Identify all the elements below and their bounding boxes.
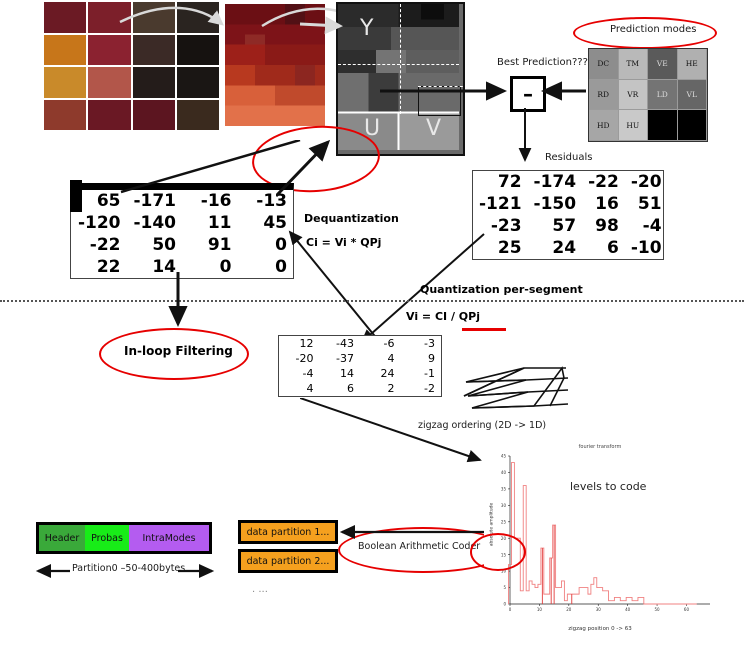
matrix-cell: -1 — [401, 366, 442, 381]
matrix-cell: 57 — [528, 215, 583, 237]
data-partition-ellipsis: . ... — [252, 584, 268, 595]
amplitude-axis-ellipse — [470, 533, 526, 571]
svg-text:20: 20 — [566, 607, 572, 612]
residuals-label: Residuals — [545, 152, 592, 163]
pred-mode-empty — [648, 110, 678, 141]
pred-mode-hd: HD — [589, 110, 619, 141]
svg-text:40: 40 — [501, 470, 507, 475]
svg-text:25: 25 — [501, 519, 507, 524]
svg-text:50: 50 — [655, 607, 661, 612]
pred-mode-ld: LD — [648, 80, 678, 111]
matrix-cell: 9 — [401, 351, 442, 366]
matrix-cell: -4 — [279, 366, 320, 381]
pred-mode-rd: RD — [589, 80, 619, 111]
matrix-cell: 4 — [279, 381, 320, 396]
svg-text:30: 30 — [596, 607, 602, 612]
matrix-cell: -3 — [401, 336, 442, 351]
quantization-separator — [0, 300, 744, 302]
probas-segment: Probas — [85, 525, 129, 551]
matrix-cell: 14 — [320, 366, 361, 381]
arrow-to-inloop — [168, 272, 192, 334]
data-partition-1-box: data partition 1... — [238, 520, 338, 544]
residuals-matrix: 72-174-22-20-121-1501651-235798-425246-1… — [472, 170, 664, 260]
svg-text:35: 35 — [501, 486, 507, 491]
matrix-cell: 2 — [360, 381, 401, 396]
matrix-cell: -4 — [625, 215, 668, 237]
matrix-cell: 12 — [279, 336, 320, 351]
matrix-cell: 11 — [182, 212, 238, 234]
matrix-cell: 16 — [582, 193, 625, 215]
svg-text:0: 0 — [503, 602, 506, 607]
matrix-cell: -22 — [71, 234, 127, 256]
svg-text:45: 45 — [501, 454, 507, 459]
matrix-cell: 24 — [528, 237, 583, 259]
quantization-formula: Vi = CI / QPj — [406, 310, 480, 323]
matrix-cell: 4 — [360, 351, 401, 366]
matrix-cell: 98 — [582, 215, 625, 237]
pred-mode-tm: TM — [619, 49, 649, 80]
matrix-cell: 24 — [360, 366, 401, 381]
data-partition-2-label: data partition 2... — [241, 556, 335, 567]
svg-text:10: 10 — [537, 607, 543, 612]
matrix-cell: -20 — [279, 351, 320, 366]
quantized-coefficients-matrix: 12-43-6-3-20-3749-41424-1462-2 — [278, 335, 442, 397]
matrix-cell: -150 — [528, 193, 583, 215]
matrix-cell: 50 — [127, 234, 183, 256]
in-loop-filtering-label: In-loop Filtering — [124, 344, 233, 358]
matrix-cell: -20 — [625, 171, 668, 193]
data-partition-1-label: data partition 1... — [241, 527, 335, 538]
header-segment: Header — [39, 525, 85, 551]
matrix-cell: -120 — [71, 212, 127, 234]
svg-text:0: 0 — [509, 607, 512, 612]
dequantization-label: Dequantization — [304, 212, 399, 225]
arrow-to-y-plane — [300, 14, 360, 44]
prediction-modes-ellipse — [573, 17, 717, 49]
matrix-cell: -2 — [401, 381, 442, 396]
intramodes-segment: IntraModes — [129, 525, 209, 551]
matrix-cell: -121 — [473, 193, 528, 215]
pred-mode-dc: DC — [589, 49, 619, 80]
data-partition-2-box: data partition 2... — [238, 549, 338, 573]
svg-text:60: 60 — [684, 607, 690, 612]
pred-mode-empty — [678, 110, 708, 141]
arrow-to-chart — [300, 398, 500, 468]
matrix-cell: 91 — [182, 234, 238, 256]
matrix-cell: -6 — [360, 336, 401, 351]
svg-text:40: 40 — [625, 607, 631, 612]
pred-mode-vr: VR — [619, 80, 649, 111]
matrix-cell: 6 — [320, 381, 361, 396]
dc-coefficient-marker — [70, 180, 82, 212]
boolean-arithmetic-coder-label: Boolean Arithmetic Coder — [358, 541, 480, 552]
pred-mode-ve: VE — [648, 49, 678, 80]
partition0-label: Partition0 –50-400bytes — [72, 563, 185, 574]
partition0-box: Header Probas IntraModes — [36, 522, 212, 554]
matrix-cell: 6 — [582, 237, 625, 259]
pred-mode-he: HE — [678, 49, 708, 80]
matrix-cell: 22 — [71, 256, 127, 278]
matrix-cell: -174 — [528, 171, 583, 193]
qpj-underline — [462, 328, 506, 331]
svg-text:30: 30 — [501, 503, 507, 508]
y-plane-label: Y — [360, 16, 373, 41]
prediction-modes-grid: DC TM VE HE RD VR LD VL HD HU — [588, 48, 708, 142]
matrix-cell: -37 — [320, 351, 361, 366]
pred-mode-hu: HU — [619, 110, 649, 141]
matrix-cell: -22 — [582, 171, 625, 193]
matrix-cell: 51 — [625, 193, 668, 215]
svg-text:5: 5 — [503, 585, 506, 590]
arrow-to-uv — [276, 138, 366, 200]
matrix-cell: 72 — [473, 171, 528, 193]
quantization-label: Quantization per-segment — [420, 283, 583, 296]
pred-mode-vl: VL — [678, 80, 708, 111]
matrix-cell: -10 — [625, 237, 668, 259]
matrix-cell: -43 — [320, 336, 361, 351]
matrix-cell: -140 — [127, 212, 183, 234]
